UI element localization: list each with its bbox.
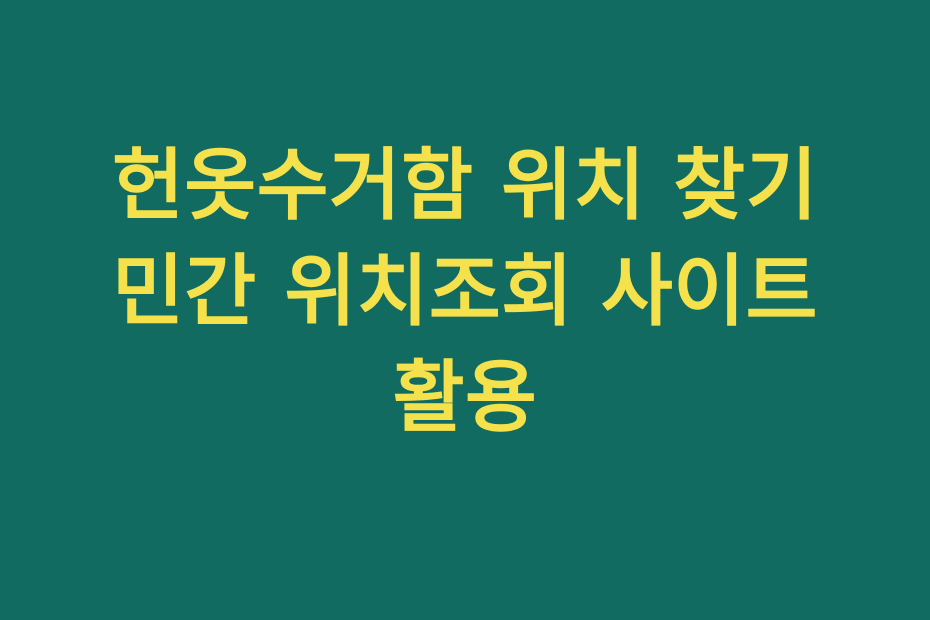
headline-block: 헌옷수거함 위치 찾기 민간 위치조회 사이트 활용 bbox=[65, 133, 865, 451]
text-banner-card: 헌옷수거함 위치 찾기 민간 위치조회 사이트 활용 bbox=[0, 0, 930, 620]
page-title: 헌옷수거함 위치 찾기 민간 위치조회 사이트 활용 bbox=[65, 133, 865, 451]
